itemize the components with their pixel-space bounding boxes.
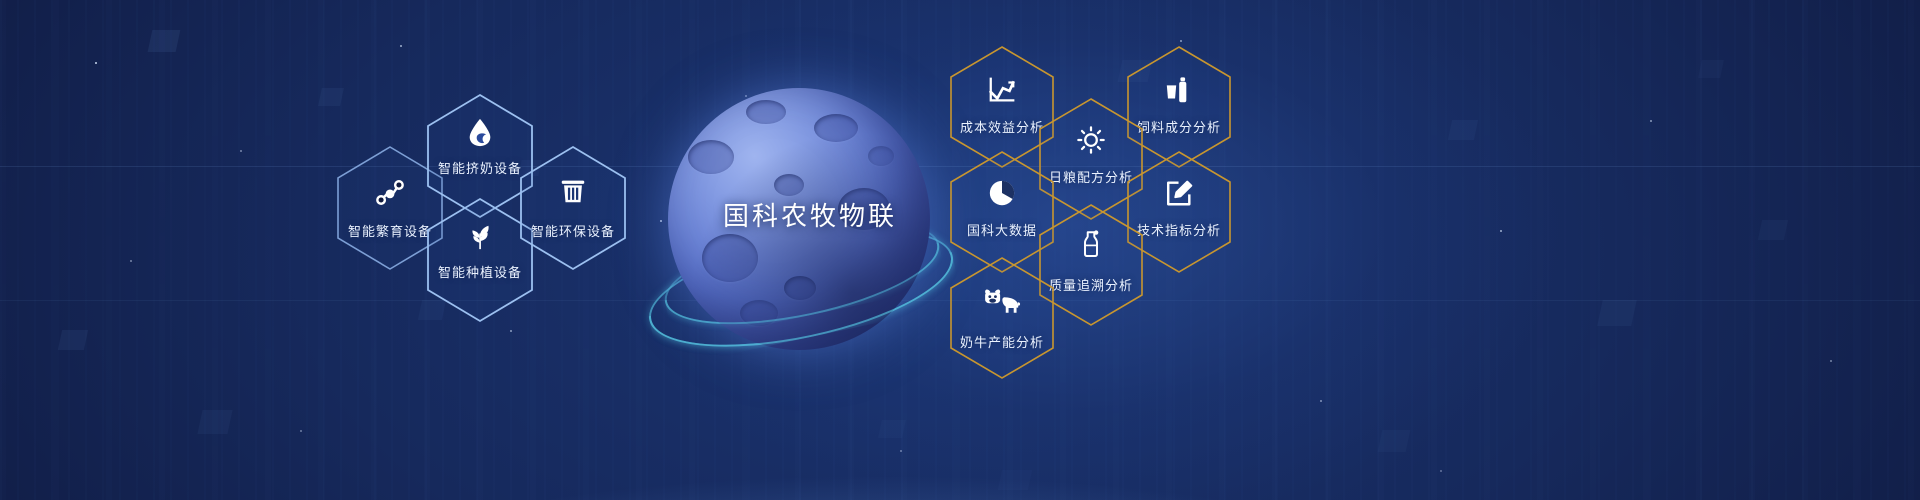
trash-bin-icon: [518, 175, 628, 205]
hex-label: 智能环保设备: [518, 221, 628, 240]
hero-banner: 智能繁育设备 智能挤奶设备 智能种植设备: [0, 0, 1920, 500]
water-drop-icon: [425, 117, 535, 147]
hex-label: 奶牛产能分析: [948, 332, 1056, 351]
milk-bottle-icon: [1037, 229, 1145, 259]
page-title: 国科农牧物联: [640, 196, 980, 233]
hex-cow-capacity-analysis[interactable]: 奶牛产能分析: [948, 256, 1056, 380]
cow-icon: [948, 286, 1056, 316]
bottom-glow: [0, 360, 1920, 500]
hex-smart-environment[interactable]: 智能环保设备: [518, 145, 628, 271]
center-planet-group: 国科农牧物联: [640, 78, 980, 388]
